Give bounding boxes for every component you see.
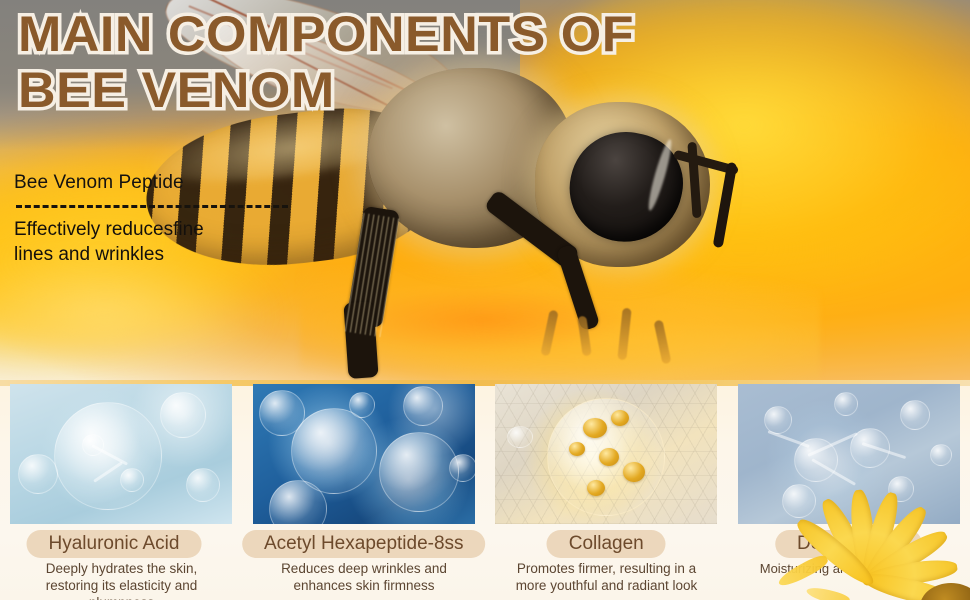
collagen-image	[495, 384, 717, 524]
component-card-hyaluronic-acid[interactable]: Hyaluronic Acid Deeply hydrates the skin…	[0, 384, 243, 600]
page-title: MAIN COMPONENTS OF BEE VENOM	[18, 6, 725, 118]
desc-line-3: plumpness	[4, 594, 239, 600]
hero-subtitle-block: Bee Venom Peptide Effectively reducesfin…	[14, 172, 344, 267]
deep-aqua-image	[738, 384, 960, 524]
desc-line-2: enhances skin firmness	[247, 577, 482, 594]
flying-petal-1	[776, 552, 830, 590]
components-section: Hyaluronic Acid Deeply hydrates the skin…	[0, 380, 970, 600]
desc-line-1: Deeply hydrates the skin,	[4, 560, 239, 577]
hero-body-line-2: lines and wrinkles	[14, 242, 344, 267]
hero-body-line-1: Effectively reducesfine	[14, 217, 344, 242]
hero-banner: MAIN COMPONENTS OF BEE VENOM Bee Venom P…	[0, 0, 970, 380]
component-card-acetyl-hexapeptide[interactable]: Acetyl Hexapeptide-8ss Reduces deep wrin…	[243, 384, 486, 600]
component-name-badge: Collagen	[547, 530, 666, 558]
component-description: Deeply hydrates the skin, restoring its …	[4, 560, 239, 600]
poster-root: MAIN COMPONENTS OF BEE VENOM Bee Venom P…	[0, 0, 970, 600]
page-title-line-1: MAIN COMPONENTS OF	[18, 6, 725, 62]
hero-subtitle: Bee Venom Peptide	[14, 172, 344, 194]
component-description: Promotes firmer, resulting in a more you…	[489, 560, 724, 594]
hyaluronic-acid-image	[10, 384, 232, 524]
desc-line-2: restoring its elasticity and	[4, 577, 239, 594]
component-card-collagen[interactable]: Collagen Promotes firmer, resulting in a…	[485, 384, 728, 600]
flying-petal-2	[805, 585, 851, 600]
corner-flower-decoration	[770, 517, 970, 600]
dashed-divider	[16, 205, 288, 208]
desc-line-1: Reduces deep wrinkles and	[247, 560, 482, 577]
desc-line-2: more youthful and radiant look	[489, 577, 724, 594]
acetyl-hexapeptide-image	[253, 384, 475, 524]
component-name-badge: Acetyl Hexapeptide-8ss	[242, 530, 486, 558]
page-title-line-2: BEE VENOM	[18, 62, 725, 118]
component-name-badge: Hyaluronic Acid	[27, 530, 202, 558]
bee-antenna-1b	[713, 162, 738, 248]
desc-line-1: Promotes firmer, resulting in a	[489, 560, 724, 577]
component-description: Reduces deep wrinkles and enhances skin …	[247, 560, 482, 594]
